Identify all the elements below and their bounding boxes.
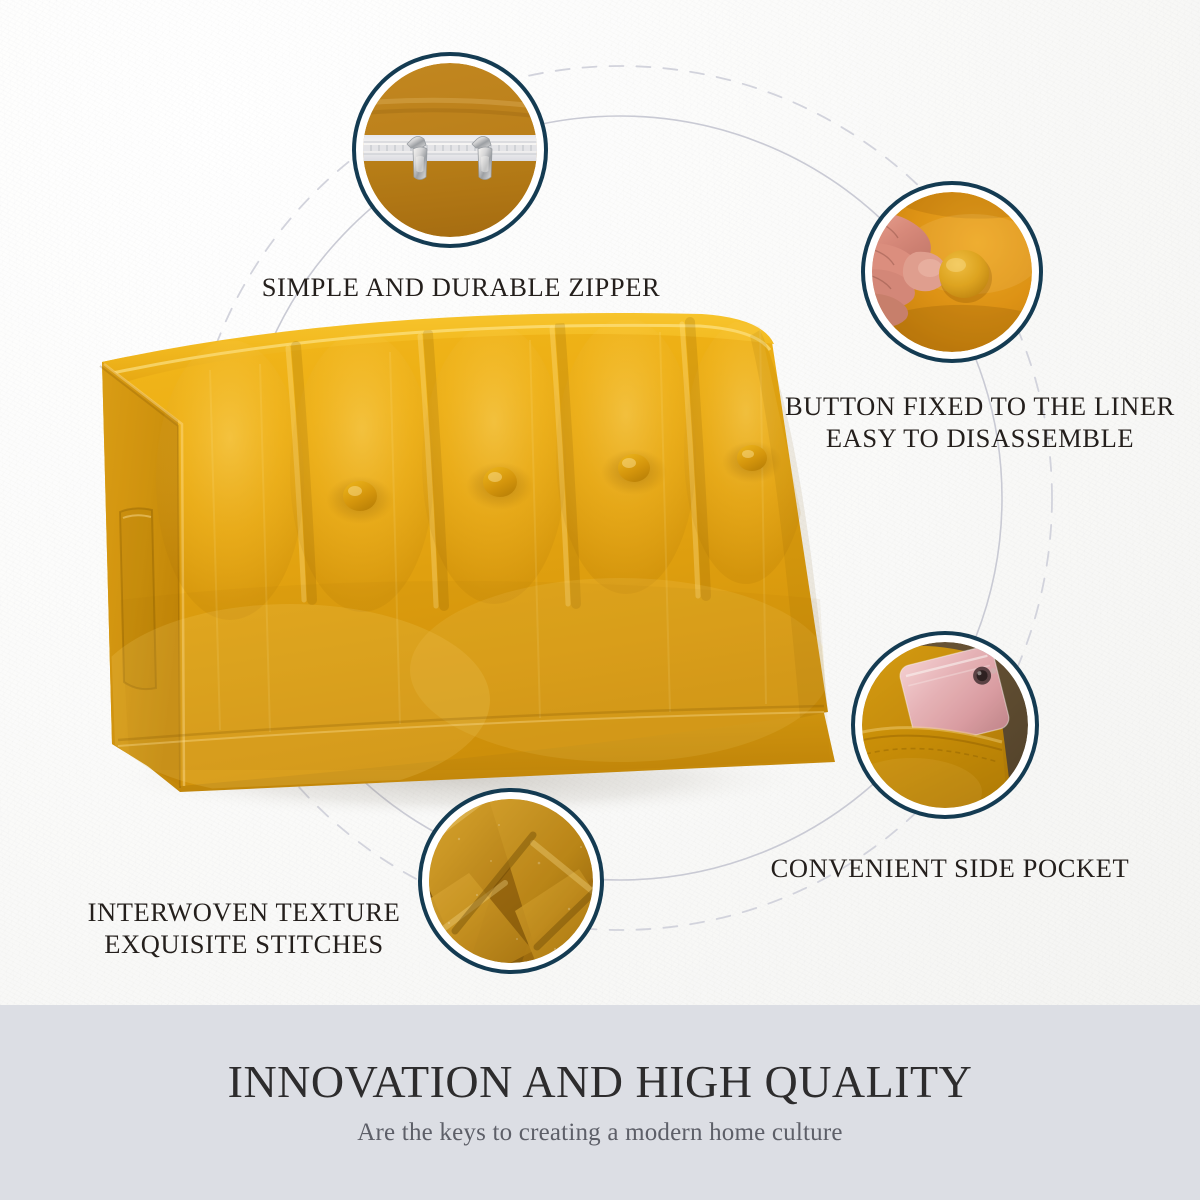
banner-subtitle: Are the keys to creating a modern home c… [357, 1119, 842, 1147]
callout-texture[interactable] [418, 788, 604, 974]
callout-label-zipper: SIMPLE AND DURABLE ZIPPER [236, 271, 686, 303]
texture-photo [429, 799, 593, 963]
callout-pocket[interactable] [851, 631, 1039, 819]
callout-label-texture: INTERWOVEN TEXTURE EXQUISITE STITCHES [60, 896, 428, 961]
infographic-canvas: SIMPLE AND DURABLE ZIPPER [0, 0, 1200, 1200]
button-photo [872, 192, 1032, 352]
callout-label-button: BUTTON FIXED TO THE LINER EASY TO DISASS… [760, 390, 1200, 455]
bottom-banner: INNOVATION AND HIGH QUALITY Are the keys… [0, 1005, 1200, 1200]
pocket-photo [862, 642, 1028, 808]
zipper-photo [363, 63, 537, 237]
callout-button[interactable] [861, 181, 1043, 363]
callout-zipper[interactable] [352, 52, 548, 248]
banner-title: INNOVATION AND HIGH QUALITY [228, 1059, 973, 1105]
product-image-wedge-cushion [60, 300, 850, 820]
callout-label-pocket: CONVENIENT SIDE POCKET [740, 852, 1160, 884]
